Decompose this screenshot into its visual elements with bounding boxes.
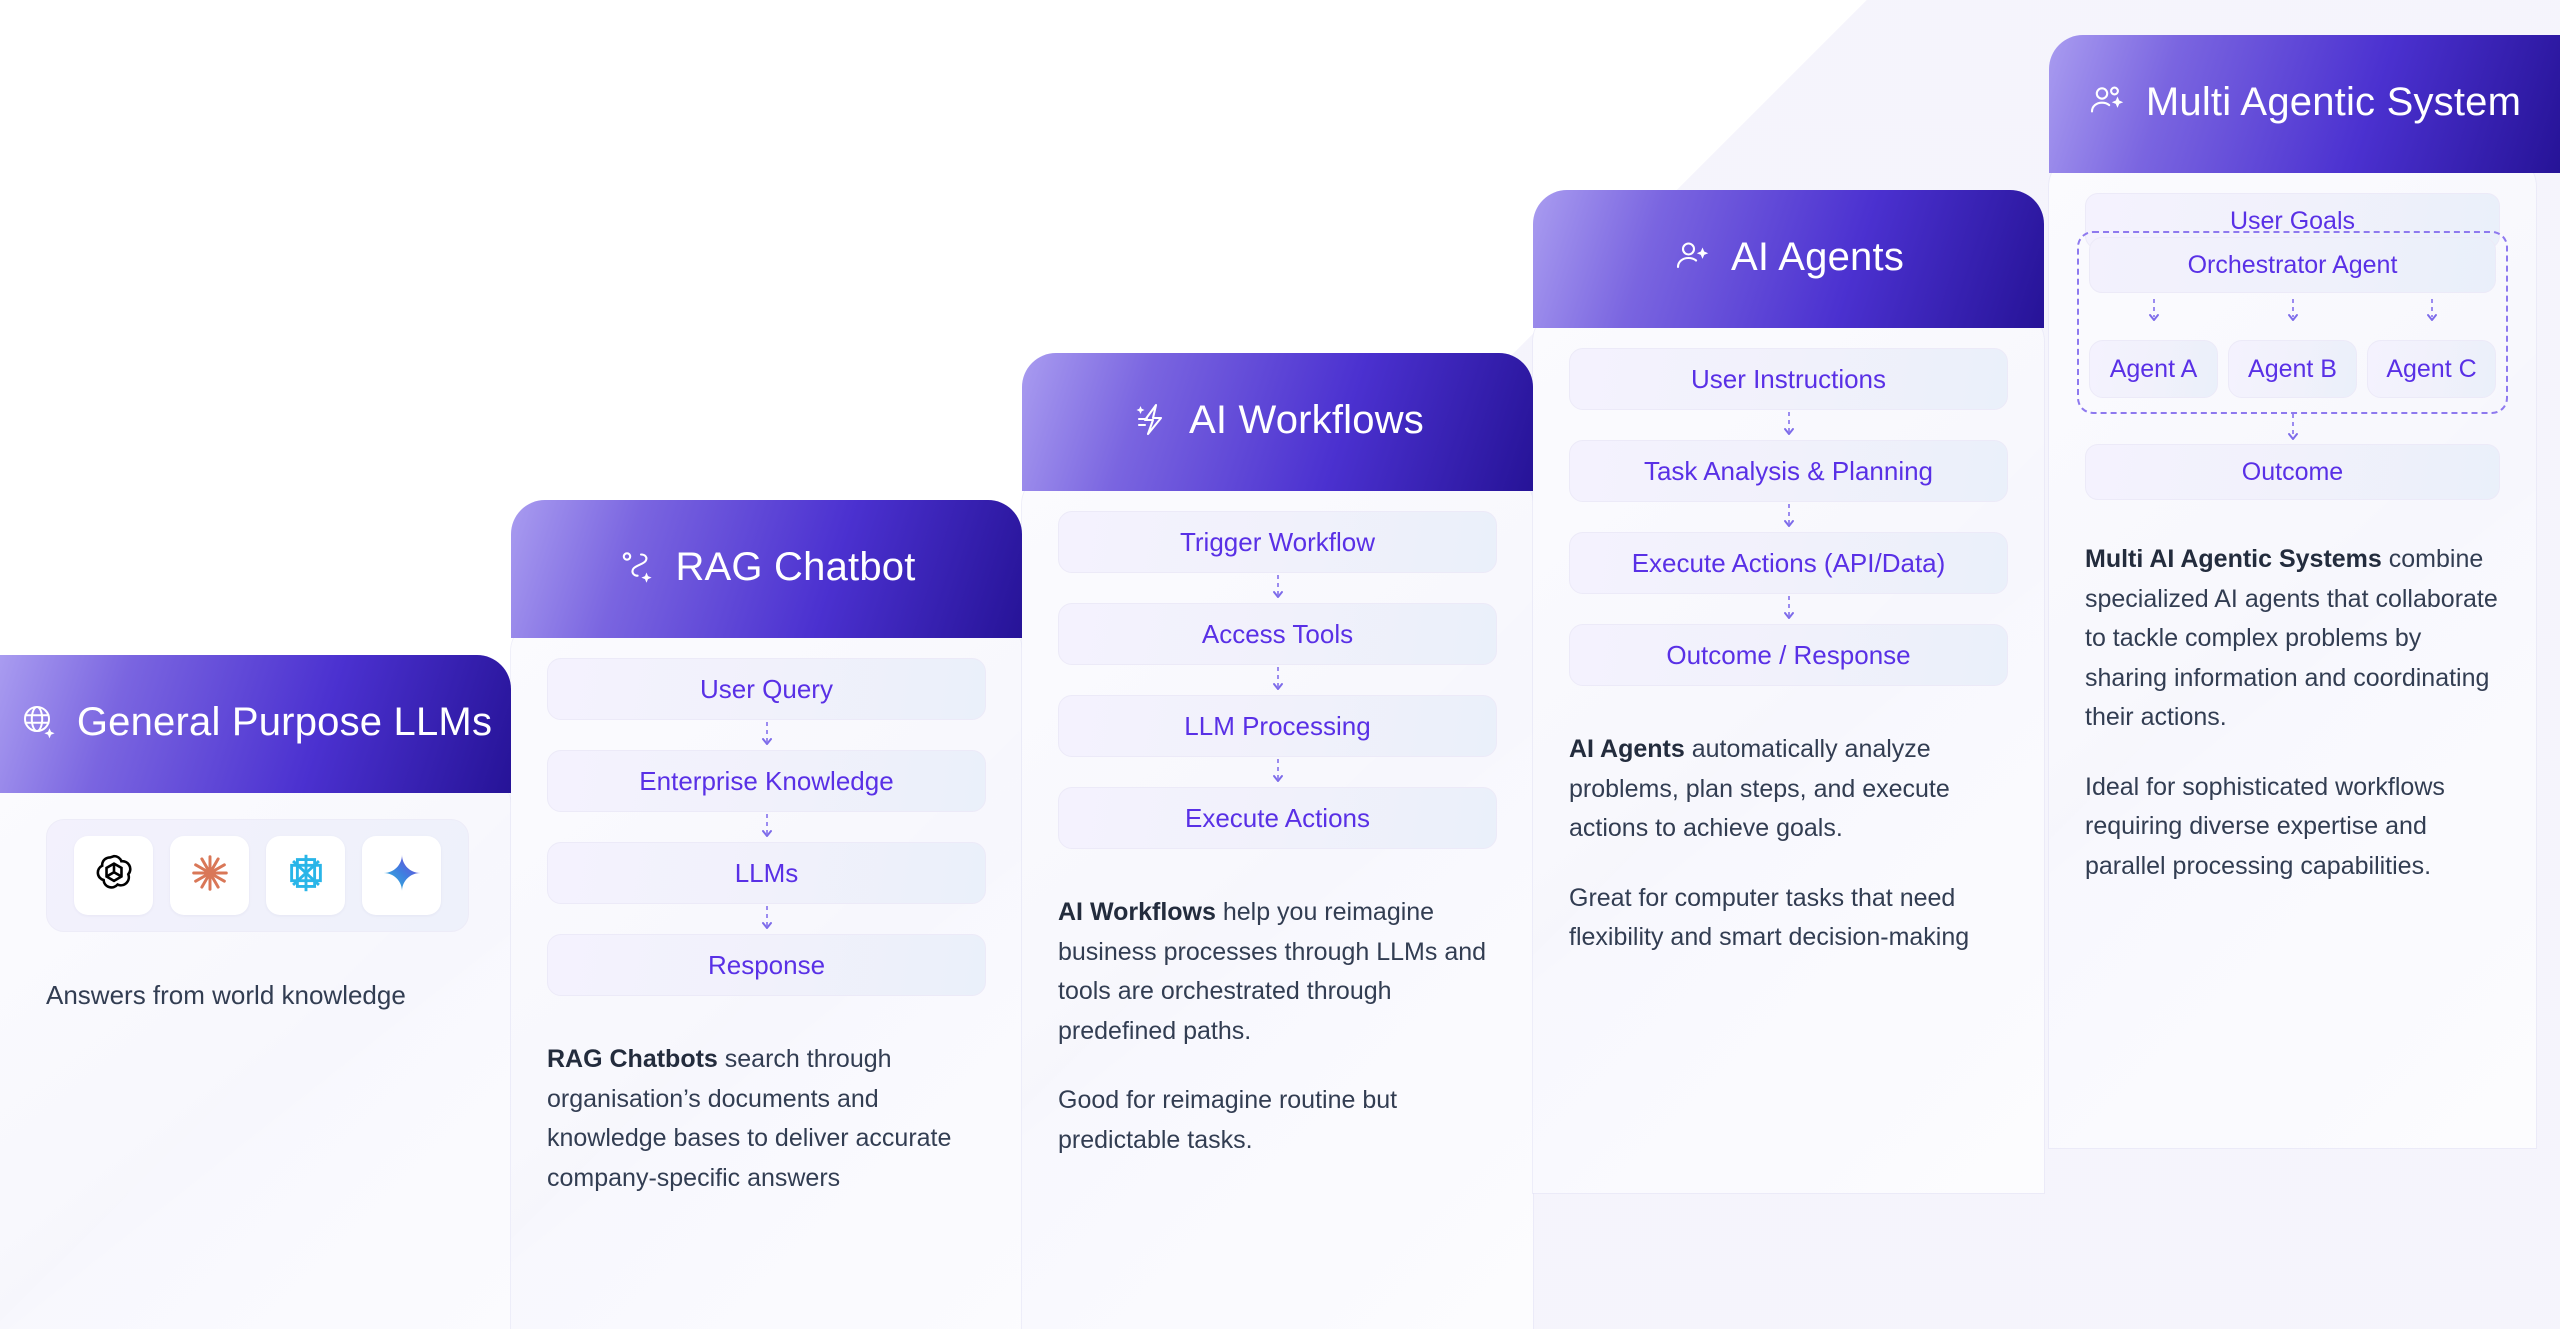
logo-tile-claude[interactable] [170, 836, 249, 915]
diagram-canvas: General Purpose LLMs [0, 0, 2560, 1329]
flow-arrow-icon [1058, 757, 1497, 787]
globe-sparkle-icon [19, 702, 59, 742]
card-description: AI Agents automatically analyze problems… [1569, 730, 2008, 958]
flow-step[interactable]: User Query [547, 658, 986, 720]
flow-steps: Trigger Workflow Access Tools LLM Proces… [1058, 511, 1497, 849]
flow-step[interactable]: Access Tools [1058, 603, 1497, 665]
flow-step-orchestrator[interactable]: Orchestrator Agent [2089, 237, 2496, 293]
card-header: AI Workflows [1022, 353, 1533, 491]
description-lead: AI Workflows [1058, 898, 1216, 926]
card-title: RAG Chatbot [675, 545, 915, 590]
flow-step[interactable]: User Instructions [1569, 348, 2008, 410]
card-body: User Goals Orchestrator Agent Agent A Ag… [2049, 153, 2536, 1148]
card-header: General Purpose LLMs [0, 655, 511, 793]
card-title: Multi Agentic System [2146, 80, 2521, 125]
flow-arrow-icon [547, 720, 986, 750]
agent-row: Agent A Agent B Agent C [2089, 340, 2496, 398]
card-description: AI Workflows help you reimagine business… [1058, 893, 1497, 1160]
flow-arrow-icon [2286, 299, 2300, 332]
agent-group-boundary: Orchestrator Agent Agent A Agent B Agent… [2077, 231, 2508, 414]
flow-arrow-icon [547, 812, 986, 842]
card-ai-agents[interactable]: AI Agents User Instructions Task Analysi… [1533, 190, 2044, 1193]
flow-step-agent-b[interactable]: Agent B [2228, 340, 2357, 398]
flow-arrow-icon [2147, 299, 2161, 332]
description-lead: AI Agents [1569, 735, 1685, 763]
card-caption: Answers from world knowledge [46, 980, 469, 1011]
card-description: Multi AI Agentic Systems combine special… [2085, 540, 2500, 886]
flow-step[interactable]: Response [547, 934, 986, 996]
flow-arrow-icon [547, 904, 986, 934]
card-body: User Instructions Task Analysis & Planni… [1533, 308, 2044, 1193]
card-header: Multi Agentic System [2049, 35, 2560, 173]
description-rest: Ideal for sophisticated workflows requir… [2085, 773, 2445, 880]
description-paragraph: AI Workflows help you reimagine business… [1058, 893, 1497, 1051]
flow-step[interactable]: Trigger Workflow [1058, 511, 1497, 573]
orchestrator-wrapper: Orchestrator Agent [2089, 237, 2496, 293]
card-multi-agentic-system[interactable]: Multi Agentic System User Goals Orchestr… [2049, 35, 2560, 1148]
description-paragraph: Good for reimagine routine but predictab… [1058, 1081, 1497, 1160]
lightning-sparkle-icon [1131, 400, 1171, 440]
flow-steps: User Instructions Task Analysis & Planni… [1569, 348, 2008, 686]
flow-arrow-icon [1058, 665, 1497, 695]
card-body: Trigger Workflow Access Tools LLM Proces… [1022, 471, 1533, 1329]
flow-step[interactable]: Execute Actions [1058, 787, 1497, 849]
agent-fanout-arrows [2089, 299, 2496, 332]
logo-tile-gemini[interactable] [362, 836, 441, 915]
route-sparkle-icon [617, 547, 657, 587]
description-rest: Great for computer tasks that need flexi… [1569, 884, 1969, 952]
flow-step[interactable]: Execute Actions (API/Data) [1569, 532, 2008, 594]
description-paragraph: Great for computer tasks that need flexi… [1569, 879, 2008, 958]
card-title: AI Agents [1731, 235, 1904, 280]
openai-logo [91, 850, 137, 901]
card-title: AI Workflows [1189, 398, 1424, 443]
flow-step[interactable]: Task Analysis & Planning [1569, 440, 2008, 502]
card-title: General Purpose LLMs [77, 700, 492, 745]
description-paragraph: Ideal for sophisticated workflows requir… [2085, 768, 2500, 887]
description-lead: Multi AI Agentic Systems [2085, 545, 2382, 573]
flow-arrow-icon [1569, 410, 2008, 440]
gemini-logo [379, 850, 425, 901]
card-ai-workflows[interactable]: AI Workflows Trigger Workflow Access Too… [1022, 353, 1533, 1329]
mistral-logo [283, 850, 329, 901]
logo-tile-openai[interactable] [74, 836, 153, 915]
flow-arrow-icon [1569, 594, 2008, 624]
flow-step[interactable]: Enterprise Knowledge [547, 750, 986, 812]
flow-arrow-icon [1058, 573, 1497, 603]
card-body: Answers from world knowledge [0, 773, 511, 1329]
flow-step[interactable]: LLMs [547, 842, 986, 904]
model-logo-rail [46, 819, 469, 932]
card-header: RAG Chatbot [511, 500, 1022, 638]
description-paragraph: AI Agents automatically analyze problems… [1569, 730, 2008, 849]
description-paragraph: RAG Chatbots search through organisation… [547, 1040, 986, 1198]
flow-arrow-icon [2425, 299, 2439, 332]
card-description: RAG Chatbots search through organisation… [547, 1040, 986, 1198]
flow-steps: User Goals Orchestrator Agent Agent A Ag… [2085, 193, 2500, 500]
card-general-purpose-llms[interactable]: General Purpose LLMs [0, 655, 511, 1329]
flow-step-agent-c[interactable]: Agent C [2367, 340, 2496, 398]
description-lead: RAG Chatbots [547, 1045, 718, 1073]
people-sparkle-icon [2088, 82, 2128, 122]
flow-step-outcome[interactable]: Outcome [2085, 444, 2500, 500]
card-body: User Query Enterprise Knowledge LLMs Res… [511, 618, 1022, 1329]
flow-step[interactable]: LLM Processing [1058, 695, 1497, 757]
description-rest: Good for reimagine routine but predictab… [1058, 1086, 1397, 1154]
flow-arrow-icon [2085, 414, 2500, 444]
flow-steps: User Query Enterprise Knowledge LLMs Res… [547, 658, 986, 996]
logo-tile-mistral[interactable] [266, 836, 345, 915]
flow-step[interactable]: Outcome / Response [1569, 624, 2008, 686]
flow-arrow-icon [1569, 502, 2008, 532]
flow-step-agent-a[interactable]: Agent A [2089, 340, 2218, 398]
card-rag-chatbot[interactable]: RAG Chatbot User Query Enterprise Knowle… [511, 500, 1022, 1329]
claude-logo [187, 850, 233, 901]
description-paragraph: Multi AI Agentic Systems combine special… [2085, 540, 2500, 738]
card-header: AI Agents [1533, 190, 2044, 328]
person-sparkle-icon [1673, 237, 1713, 277]
